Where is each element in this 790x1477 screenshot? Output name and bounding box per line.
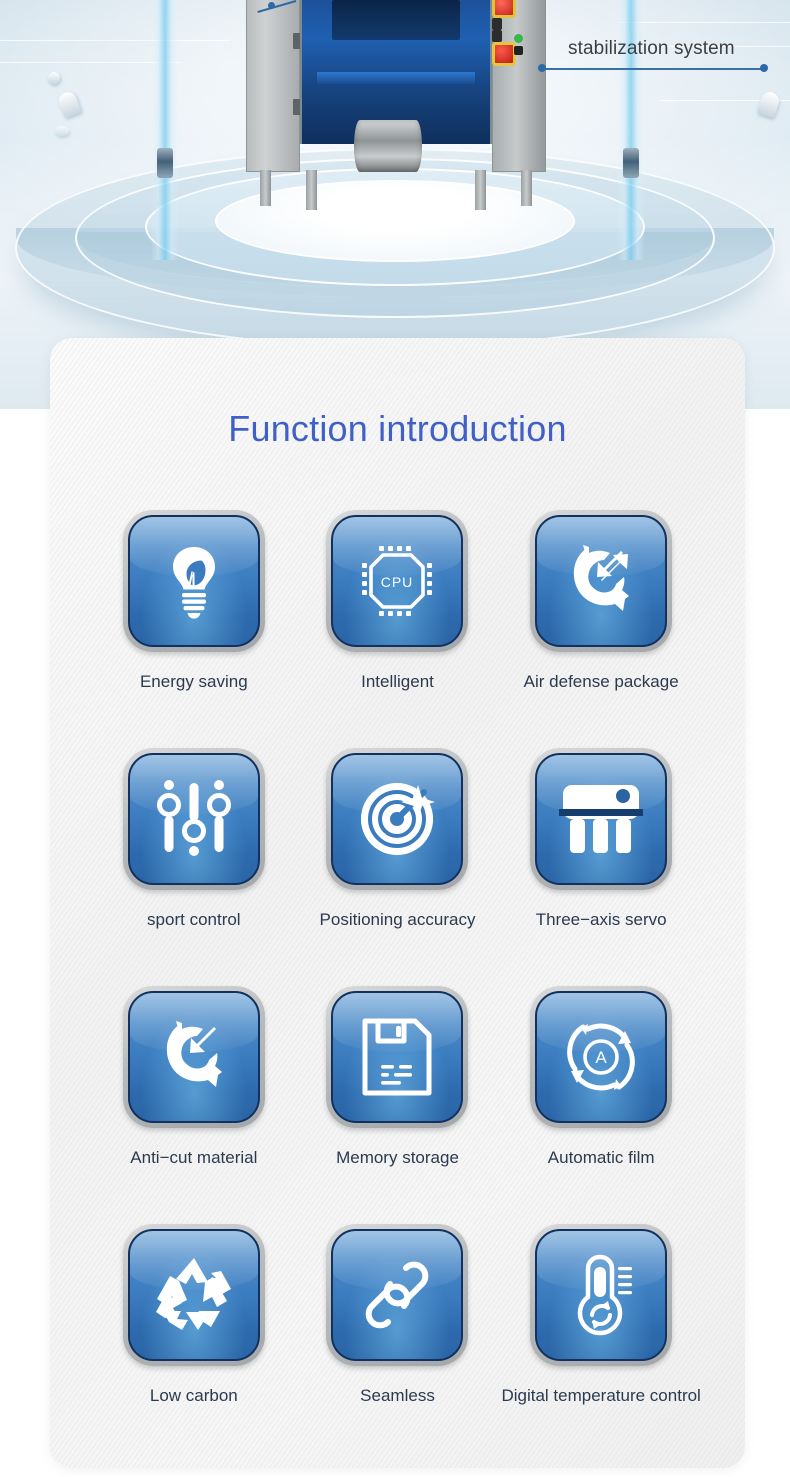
glass-column-left <box>152 0 178 260</box>
machine-core-shadow <box>332 0 460 40</box>
sliders-icon <box>156 779 232 859</box>
feature-tile[interactable]: A <box>530 986 672 1128</box>
feature-tile[interactable] <box>530 510 672 652</box>
servo-motor-icon <box>559 781 643 857</box>
feature-cell-anti-cut-material[interactable]: Anti−cut material <box>92 986 296 1168</box>
chain-link-icon <box>357 1255 437 1335</box>
feature-tile-face <box>128 1229 260 1361</box>
feature-cell-energy-saving[interactable]: Energy saving <box>92 510 296 692</box>
floor-lamp <box>55 126 69 136</box>
control-panel <box>492 0 546 172</box>
feature-tile[interactable] <box>326 986 468 1128</box>
status-light-dark <box>514 46 523 55</box>
feature-label: Memory storage <box>336 1148 459 1168</box>
glass-clamp <box>623 148 639 178</box>
recycle-icon <box>153 1255 235 1335</box>
machine-leg <box>260 170 271 206</box>
feature-label: Anti−cut material <box>130 1148 257 1168</box>
feature-cell-digital-temperature-control[interactable]: Digital temperature control <box>499 1224 703 1406</box>
callout-pointer-dot-top <box>268 2 275 9</box>
feature-cell-memory-storage[interactable]: Memory storage <box>296 986 500 1168</box>
feature-label: sport control <box>147 910 241 930</box>
feature-cell-intelligent[interactable]: CPU Intelligent <box>296 510 500 692</box>
feature-label: Intelligent <box>361 672 434 692</box>
thermometer-icon <box>564 1253 638 1337</box>
feature-tile-face <box>535 515 667 647</box>
svg-text:A: A <box>595 1048 607 1067</box>
feature-tile-face <box>535 1229 667 1361</box>
feature-tile[interactable] <box>123 1224 265 1366</box>
feature-tile-face <box>535 753 667 885</box>
feature-tile-face <box>128 991 260 1123</box>
feature-tile[interactable] <box>326 748 468 890</box>
panel-switch-left[interactable] <box>492 18 502 30</box>
feature-label: Digital temperature control <box>501 1386 700 1406</box>
feature-cell-three-axis-servo[interactable]: Three−axis servo <box>499 748 703 930</box>
target-arrow-icon <box>356 778 438 860</box>
floor-lamp <box>48 72 60 84</box>
cpu-chip-icon: CPU <box>358 542 436 620</box>
feature-tile[interactable] <box>123 748 265 890</box>
feature-cell-sport-control[interactable]: sport control <box>92 748 296 930</box>
feature-tile[interactable] <box>530 748 672 890</box>
panel-switch-right[interactable] <box>492 30 502 42</box>
callout-dot-end <box>760 64 768 72</box>
callout-dot-start <box>538 64 546 72</box>
feature-label: Seamless <box>360 1386 435 1406</box>
emergency-stop-button-bottom[interactable] <box>492 42 516 66</box>
feature-cell-automatic-film[interactable]: A Automatic film <box>499 986 703 1168</box>
feature-label: Three−axis servo <box>536 910 667 930</box>
feature-label: Air defense package <box>524 672 679 692</box>
feature-tile[interactable]: CPU <box>326 510 468 652</box>
anti-cut-arrow-icon <box>152 1017 236 1097</box>
machine-leg <box>306 170 317 210</box>
feature-grid: Energy saving <box>50 510 745 1406</box>
function-introduction-panel: Function introduction Energy saving <box>50 338 745 1468</box>
callout-line <box>542 68 764 70</box>
machine-leg <box>521 170 532 206</box>
film-roll <box>354 120 422 172</box>
svg-text:CPU: CPU <box>381 574 414 590</box>
feature-tile[interactable] <box>123 510 265 652</box>
feature-tile[interactable] <box>326 1224 468 1366</box>
floppy-disk-icon <box>361 1017 433 1097</box>
feature-tile[interactable] <box>123 986 265 1128</box>
feature-tile[interactable] <box>530 1224 672 1366</box>
page-title: Function introduction <box>50 408 745 450</box>
air-package-arrow-icon <box>559 541 643 621</box>
feature-tile-face <box>128 753 260 885</box>
feature-cell-seamless[interactable]: Seamless <box>296 1224 500 1406</box>
feature-label: Low carbon <box>150 1386 238 1406</box>
machine-leg <box>475 170 486 210</box>
auto-rotate-a-icon: A <box>559 1017 643 1097</box>
feature-tile-face <box>331 1229 463 1361</box>
feature-label: Automatic film <box>548 1148 655 1168</box>
feature-tile-face: A <box>535 991 667 1123</box>
status-light-green <box>514 34 523 43</box>
feature-cell-positioning-accuracy[interactable]: Positioning accuracy <box>296 748 500 930</box>
feature-label: Positioning accuracy <box>320 910 476 930</box>
feature-tile-face: CPU <box>331 515 463 647</box>
feature-tile-face <box>128 515 260 647</box>
machine-frame-left <box>246 0 300 172</box>
feature-cell-air-defense-package[interactable]: Air defense package <box>499 510 703 692</box>
lightbulb-leaf-icon <box>160 543 228 619</box>
packaging-machine <box>246 0 546 206</box>
feature-tile-face <box>331 991 463 1123</box>
callout-label-text: stabilization system <box>568 38 735 60</box>
feature-cell-low-carbon[interactable]: Low carbon <box>92 1224 296 1406</box>
glass-clamp <box>157 148 173 178</box>
emergency-stop-button-top[interactable] <box>492 0 516 18</box>
feature-label: Energy saving <box>140 672 248 692</box>
feature-tile-face <box>331 753 463 885</box>
